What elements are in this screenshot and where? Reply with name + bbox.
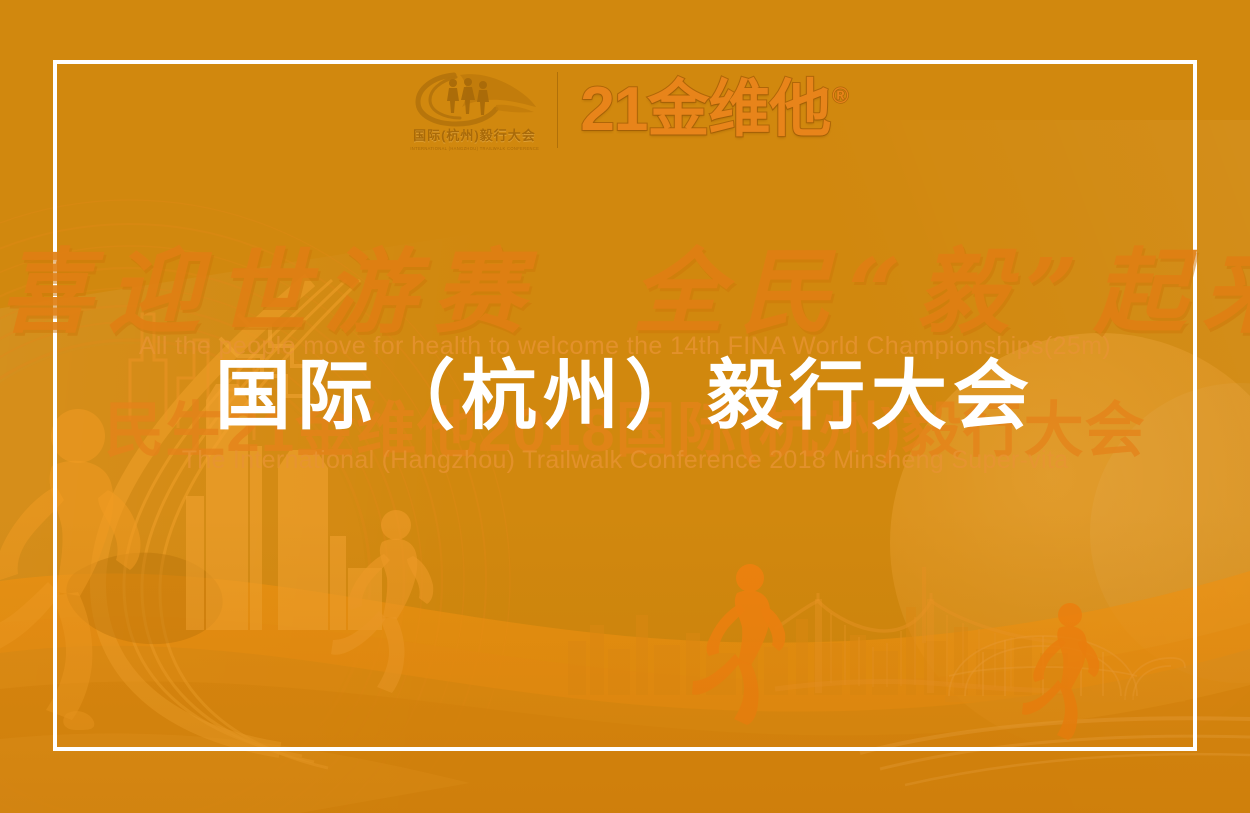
brand-name: 21金维他 — [580, 79, 830, 141]
emblem-english-label: INTERNATIONAL (HANGZHOU) TRAILWALK CONFE… — [410, 146, 539, 151]
english-subtitle-secondary: The International (Hangzhou) Trailwalk C… — [0, 446, 1250, 475]
registered-trademark-icon: ® — [832, 83, 848, 109]
logo-divider — [557, 72, 558, 148]
emblem-chinese-label: 国际(杭州)毅行大会 — [413, 129, 536, 143]
trailwalk-emblem-block: 国际(杭州)毅行大会 INTERNATIONAL (HANGZHOU) TRAI… — [401, 69, 547, 150]
logo-row: 国际(杭州)毅行大会 INTERNATIONAL (HANGZHOU) TRAI… — [0, 62, 1250, 158]
page-title: 国际（杭州）毅行大会 — [0, 359, 1250, 435]
trailwalk-swirl-emblem-icon — [410, 69, 538, 129]
brand-logo-block: 21金维他 ® — [580, 79, 848, 141]
event-banner: 国际(杭州)毅行大会 INTERNATIONAL (HANGZHOU) TRAI… — [0, 0, 1250, 813]
slogan-right: 全民“毅”起来 — [632, 238, 1250, 346]
slogan-left: 喜迎世游赛 — [0, 238, 540, 346]
